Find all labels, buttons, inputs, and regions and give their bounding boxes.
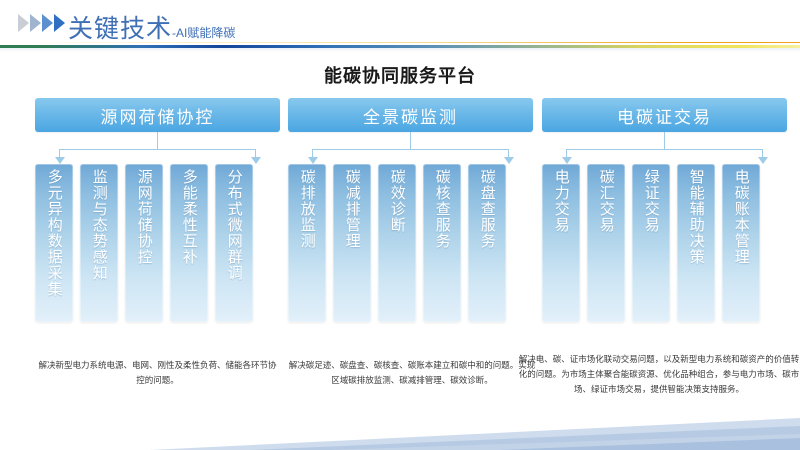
item-box[interactable]: 碳核查服务 — [423, 164, 461, 322]
chevron-right-icon-2 — [30, 14, 41, 32]
group-column-1: 源网荷储协控 多元异构数据采集 监测与态势感知 源网荷储协控 多能柔性互补 分布… — [35, 98, 280, 322]
item-box[interactable]: 碳减排管理 — [333, 164, 371, 322]
item-box[interactable]: 分布式微网群调 — [215, 164, 253, 322]
connector-3 — [542, 132, 787, 164]
item-box-label: 多能柔性互补 — [181, 169, 196, 265]
item-box-label: 碳盘查服务 — [479, 169, 494, 249]
item-box[interactable]: 绿证交易 — [632, 164, 670, 322]
group-description-3: 解决电、碳、证市场化联动交易问题，以及新型电力系统和碳资产的价值转化的问题。为市… — [518, 352, 800, 397]
item-box-label: 碳核查服务 — [434, 169, 449, 249]
item-box-label: 源网荷储协控 — [136, 169, 151, 265]
arrow-down-icon-left — [55, 157, 65, 164]
platform-title: 能碳协同服务平台 — [0, 62, 800, 88]
item-box[interactable]: 电力交易 — [542, 164, 580, 322]
item-box-label: 多元异构数据采集 — [46, 169, 61, 297]
page-title-main: 关键技术 — [68, 15, 172, 43]
page-title: 关键技术-AI赋能降碳 — [68, 9, 235, 45]
item-box-label: 碳排放监测 — [299, 169, 314, 249]
arrow-down-icon-right — [504, 157, 514, 164]
arrow-down-icon-left — [308, 157, 318, 164]
arrow-down-icon-right — [251, 157, 261, 164]
group-heading-3[interactable]: 电碳证交易 — [542, 98, 787, 132]
item-box-label: 碳减排管理 — [344, 169, 359, 249]
item-box-label: 监测与态势感知 — [91, 169, 106, 281]
chevron-right-icon-4 — [54, 14, 65, 32]
divider-fade — [0, 48, 800, 52]
group-column-2: 全景碳监测 碳排放监测 碳减排管理 碳效诊断 碳核查服务 碳盘查服务 — [288, 98, 533, 322]
connector-bar — [312, 149, 509, 150]
connector-2 — [288, 132, 533, 164]
item-box[interactable]: 多元异构数据采集 — [35, 164, 73, 322]
item-box-label: 电力交易 — [553, 169, 568, 233]
item-box[interactable]: 碳盘查服务 — [468, 164, 506, 322]
group-heading-1[interactable]: 源网荷储协控 — [35, 98, 280, 132]
chevron-right-icon-1 — [18, 14, 29, 32]
arrow-down-icon-right — [758, 157, 768, 164]
arrow-down-icon-left — [562, 157, 572, 164]
item-boxes-2: 碳排放监测 碳减排管理 碳效诊断 碳核查服务 碳盘查服务 — [288, 164, 533, 322]
item-box-label: 分布式微网群调 — [226, 169, 241, 281]
chevron-group — [18, 14, 65, 32]
item-box[interactable]: 碳效诊断 — [378, 164, 416, 322]
bottom-decoration-svg — [0, 404, 800, 450]
item-box[interactable]: 电碳账本管理 — [722, 164, 760, 322]
group-column-3: 电碳证交易 电力交易 碳汇交易 绿证交易 智能辅助决策 电碳账本管理 — [542, 98, 787, 322]
page-header: 关键技术-AI赋能降碳 — [0, 0, 800, 52]
connector-bar — [566, 149, 763, 150]
item-box-label: 绿证交易 — [643, 169, 658, 233]
item-boxes-1: 多元异构数据采集 监测与态势感知 源网荷储协控 多能柔性互补 分布式微网群调 — [35, 164, 280, 322]
bottom-decoration — [0, 404, 800, 450]
item-boxes-3: 电力交易 碳汇交易 绿证交易 智能辅助决策 电碳账本管理 — [542, 164, 787, 322]
item-box[interactable]: 多能柔性互补 — [170, 164, 208, 322]
chevron-right-icon-3 — [42, 14, 53, 32]
item-box[interactable]: 碳排放监测 — [288, 164, 326, 322]
item-box-label: 智能辅助决策 — [688, 169, 703, 265]
item-box[interactable]: 碳汇交易 — [587, 164, 625, 322]
connector-1 — [35, 132, 280, 164]
group-description-2: 解决碳足迹、碳盘查、碳核查、碳账本建立和碳中和的问题。实现区域碳排放监测、碳减排… — [286, 358, 538, 388]
group-description-1: 解决新型电力系统电源、电网、刚性及柔性负荷、储能各环节协控的问题。 — [35, 358, 280, 388]
item-box-label: 电碳账本管理 — [733, 169, 748, 265]
connector-stem — [664, 132, 665, 149]
connector-bar — [59, 149, 256, 150]
item-box[interactable]: 智能辅助决策 — [677, 164, 715, 322]
connector-stem — [157, 132, 158, 149]
item-box-label: 碳效诊断 — [389, 169, 404, 233]
item-box[interactable]: 监测与态势感知 — [80, 164, 118, 322]
page-title-subtitle: -AI赋能降碳 — [172, 26, 235, 40]
item-box-label: 碳汇交易 — [598, 169, 613, 233]
divider-orange — [0, 42, 800, 43]
group-heading-2[interactable]: 全景碳监测 — [288, 98, 533, 132]
item-box[interactable]: 源网荷储协控 — [125, 164, 163, 322]
connector-stem — [410, 132, 411, 149]
